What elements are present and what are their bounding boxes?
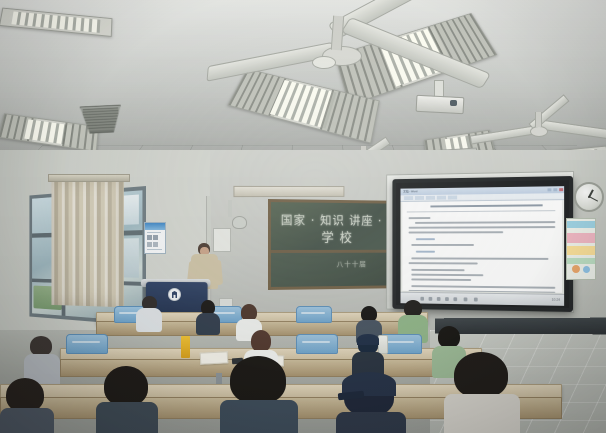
green-chalkboard: 国家 · 知识 讲座 · 学 校 八十十届 (268, 199, 393, 290)
fan-light-kit (312, 56, 336, 69)
poster-icon (153, 235, 158, 240)
chalkboard-line-3: 八十十届 (337, 260, 367, 270)
poster-figure-icon (572, 265, 580, 273)
taskbar-icon[interactable] (445, 297, 449, 301)
board-light-rail (233, 186, 344, 197)
document-text-line (416, 238, 435, 240)
student-torso (220, 400, 298, 433)
ribbon-tab-home[interactable] (415, 196, 424, 200)
projector-body (416, 95, 465, 114)
student-hair (230, 356, 286, 404)
document-text-line (411, 257, 548, 259)
document-text-line (411, 278, 470, 280)
fan-downrod (535, 112, 542, 127)
chair-slot (302, 341, 330, 343)
wall-conduit (206, 196, 211, 248)
document-text-line (408, 226, 555, 228)
chair-slot (386, 341, 414, 343)
document-text-line (411, 244, 474, 246)
chair-slot (72, 341, 100, 343)
taskbar-clock: 10:24 (552, 298, 561, 302)
student-hair (104, 366, 148, 406)
student-back-row-right (444, 352, 520, 433)
yellow-thermos (181, 336, 190, 358)
ceiling-fan-right (470, 108, 606, 152)
student-white-shirt-front-left (136, 296, 162, 330)
taskbar-icon[interactable] (429, 296, 433, 300)
camera-mount (228, 200, 232, 217)
poster-band (567, 221, 595, 228)
student-front-right-cap (336, 372, 406, 433)
chalkboard-line-1: 国家 · 知识 讲座 · (281, 211, 383, 228)
chair-back (296, 306, 332, 323)
clock-minute-hand (589, 196, 598, 202)
speaker-grill (83, 107, 120, 131)
ribbon-tab-file[interactable] (404, 196, 413, 200)
chair-back (296, 334, 338, 354)
chalkboard-line-2: 学 校 (321, 227, 352, 246)
clock-center-pin (588, 196, 590, 198)
document-text-line (411, 285, 555, 288)
baseball-cap-icon (357, 334, 379, 345)
document-text-line (416, 251, 435, 253)
poster-icon (147, 235, 152, 240)
student-front-far-left (0, 378, 54, 433)
chair-slot (301, 312, 325, 314)
student-hair (30, 336, 52, 356)
chair[interactable] (296, 334, 336, 354)
school-crest-icon (168, 288, 181, 301)
document-text-line (408, 217, 430, 219)
presenter-arm-right (213, 260, 223, 286)
poster-icon (153, 242, 158, 247)
student-torso (136, 308, 162, 332)
colorful-announcement-poster (566, 218, 596, 280)
fan-hub (530, 126, 548, 137)
student-torso (0, 408, 54, 433)
ceiling-projector[interactable] (412, 80, 466, 120)
taskbar-icon[interactable] (464, 297, 468, 301)
chalkboard-lower-panel (271, 250, 391, 287)
taskbar-icon[interactable] (474, 297, 478, 301)
classroom-photo: 国家 · 知识 讲座 · 学 校 八十十届 文档 - Word (0, 0, 606, 433)
fan-downrod (331, 16, 344, 51)
maximize-button[interactable] (553, 188, 557, 191)
projector-lens-icon (450, 100, 457, 106)
chair-back (66, 334, 108, 354)
student-hair (6, 378, 44, 412)
poster-band (567, 258, 595, 264)
student-hair (454, 352, 508, 398)
student-torso (96, 402, 158, 433)
close-button[interactable] (559, 188, 563, 191)
document-divider (407, 210, 556, 212)
student-torso (336, 412, 406, 433)
chair[interactable] (66, 334, 106, 354)
document-text-line (411, 274, 483, 276)
screen-content[interactable]: 文档 - Word (400, 186, 564, 294)
poster-icon (147, 242, 152, 247)
student-torso (196, 313, 220, 335)
student-torso (444, 394, 520, 433)
student-dark-shirt-center (196, 300, 220, 332)
taskbar-icon[interactable] (437, 297, 441, 301)
document-heading (430, 204, 542, 207)
poster-figure-icon (583, 266, 590, 273)
student-front-center (220, 356, 298, 433)
ribbon-tab-design[interactable] (437, 196, 446, 200)
interactive-smart-board[interactable]: 文档 - Word (392, 176, 573, 312)
document-text-line (408, 231, 503, 233)
student-hair (438, 326, 460, 348)
dome-camera-icon (232, 216, 247, 229)
ribbon-tab-layout[interactable] (448, 196, 457, 200)
document-text-line (415, 221, 556, 223)
minimize-button[interactable] (547, 188, 551, 191)
poster-band (567, 233, 595, 243)
fluorescent-troffer-corner (0, 8, 112, 37)
document-text-line (408, 262, 477, 264)
poster-header-band (145, 223, 165, 230)
ribbon-tab-insert[interactable] (426, 196, 435, 200)
document-text-line (411, 269, 464, 271)
student-hair (251, 330, 271, 352)
curtain-rail (48, 174, 130, 182)
taskbar-icon[interactable] (453, 297, 457, 301)
light-lens (11, 11, 100, 32)
wall-clock (574, 182, 604, 212)
safety-notice-poster (144, 222, 166, 254)
document-page[interactable] (402, 200, 562, 293)
poster-band (567, 246, 595, 255)
poster-line (147, 249, 162, 250)
document-title: 文档 - Word (403, 189, 417, 193)
window-curtain[interactable] (51, 177, 123, 307)
chair[interactable] (296, 306, 330, 322)
poster-line (147, 232, 161, 233)
student-front-left (96, 366, 158, 433)
